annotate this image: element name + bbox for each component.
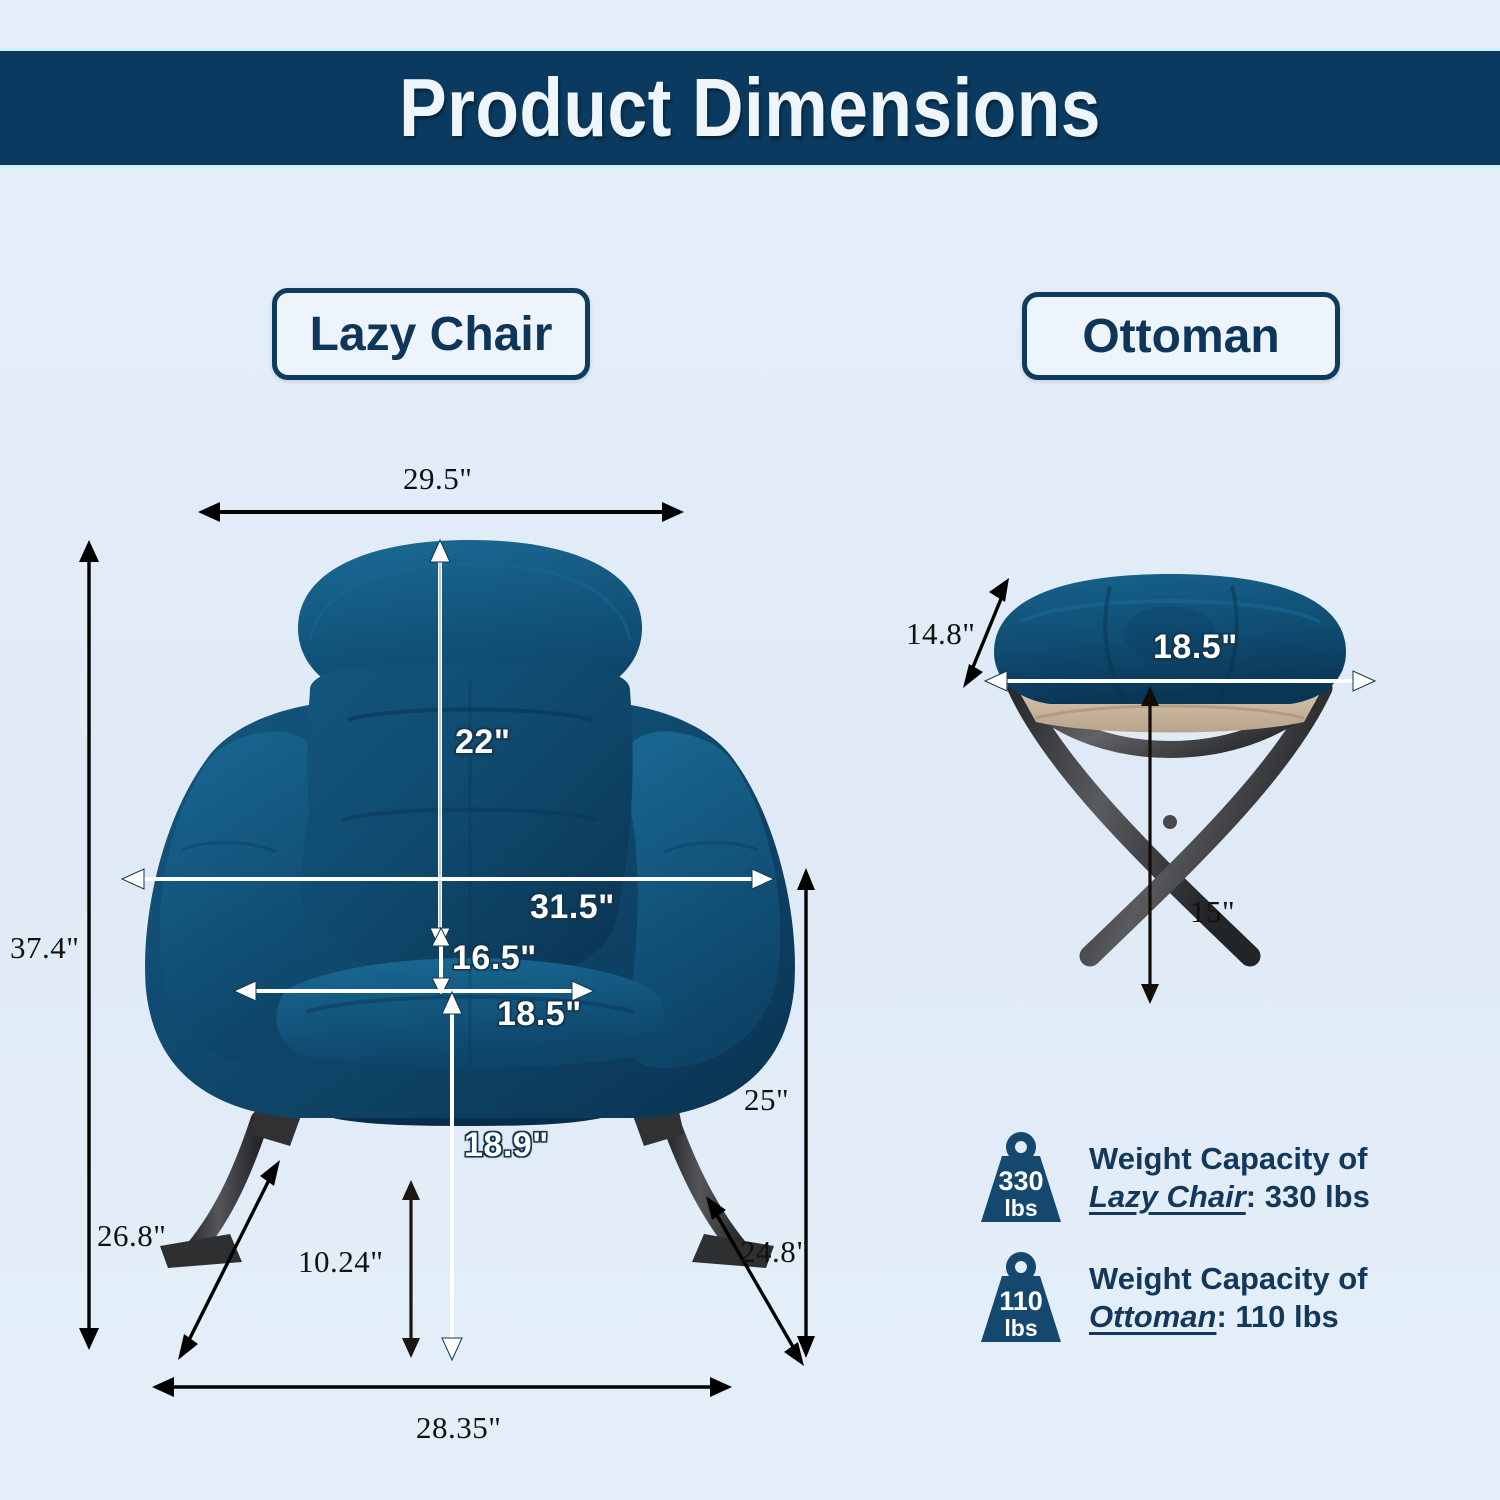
weight-capacity-product: Ottoman <box>1089 1299 1216 1334</box>
dim-label-chair-seat-width: 18.5" <box>497 995 582 1034</box>
header-banner: Product Dimensions <box>0 48 1500 168</box>
weight-icon: 110 lbs <box>975 1248 1067 1348</box>
label-chip-ottoman: Ottoman <box>1022 292 1340 380</box>
weight-capacity-chair-text: Weight Capacity of Lazy Chair: 330 lbs <box>1089 1140 1370 1216</box>
dim-label-chair-top-width: 29.5" <box>403 461 472 497</box>
infographic-root: Product Dimensions Lazy Chair Ottoman <box>0 0 1500 1500</box>
weight-capacity-separator: : <box>1216 1299 1235 1334</box>
arrow-ottoman-width <box>985 668 1375 694</box>
weight-capacity-ottoman-row: 110 lbs Weight Capacity of Ottoman: 110 … <box>975 1248 1367 1348</box>
dim-label-chair-overall-width: 31.5" <box>530 888 615 927</box>
dim-label-ottoman-width: 18.5" <box>1153 628 1238 667</box>
dim-label-chair-base-width: 28.35" <box>416 1410 501 1446</box>
dim-label-chair-back-height: 22" <box>455 723 510 762</box>
weight-icon-unit: lbs <box>1004 1195 1037 1221</box>
weight-icon-unit: lbs <box>1004 1315 1037 1341</box>
dim-label-chair-overall-height: 37.4" <box>10 930 79 966</box>
weight-capacity-line2: Ottoman: 110 lbs <box>1089 1298 1367 1336</box>
weight-capacity-separator: : <box>1246 1179 1265 1214</box>
arrow-ottoman-height <box>1138 686 1162 1004</box>
label-chip-lazy-chair: Lazy Chair <box>272 288 590 380</box>
weight-capacity-chair-row: 330 lbs Weight Capacity of Lazy Chair: 3… <box>975 1128 1370 1228</box>
weight-capacity-line2: Lazy Chair: 330 lbs <box>1089 1178 1370 1216</box>
dim-label-chair-right-leg: 24.8" <box>740 1234 809 1270</box>
weight-capacity-value: 110 lbs <box>1235 1299 1338 1334</box>
dim-label-chair-side-height: 25" <box>744 1082 789 1118</box>
arrow-chair-clearance <box>399 1180 423 1358</box>
weight-icon: 330 lbs <box>975 1128 1067 1228</box>
arrow-chair-overall-width <box>122 866 774 892</box>
arrow-chair-seat-height <box>440 992 464 1360</box>
arrow-chair-right-leg <box>700 1196 816 1366</box>
weight-icon-value: 110 <box>999 1286 1043 1316</box>
dim-label-chair-seat-height: 18.9" <box>464 1126 549 1165</box>
dim-label-chair-arm-height: 16.5" <box>452 939 537 978</box>
arrow-chair-left-leg <box>168 1160 288 1360</box>
page-title: Product Dimensions <box>399 60 1101 156</box>
weight-capacity-value: 330 lbs <box>1265 1179 1370 1214</box>
weight-icon-value: 330 <box>998 1166 1043 1196</box>
weight-capacity-ottoman-text: Weight Capacity of Ottoman: 110 lbs <box>1089 1260 1367 1336</box>
weight-capacity-product: Lazy Chair <box>1089 1179 1246 1214</box>
weight-capacity-line1: Weight Capacity of <box>1089 1140 1370 1178</box>
arrow-chair-base-width <box>152 1374 732 1400</box>
arrow-chair-top-width <box>198 498 684 526</box>
chip-label-text: Ottoman <box>1082 309 1279 364</box>
dim-label-ottoman-height: 15" <box>1190 894 1235 930</box>
chip-label-text: Lazy Chair <box>310 307 553 362</box>
dim-label-chair-left-leg: 26.8" <box>97 1218 166 1254</box>
dim-label-chair-clearance: 10.24" <box>298 1244 383 1280</box>
dim-label-ottoman-depth: 14.8" <box>906 616 975 652</box>
weight-capacity-line1: Weight Capacity of <box>1089 1260 1367 1298</box>
